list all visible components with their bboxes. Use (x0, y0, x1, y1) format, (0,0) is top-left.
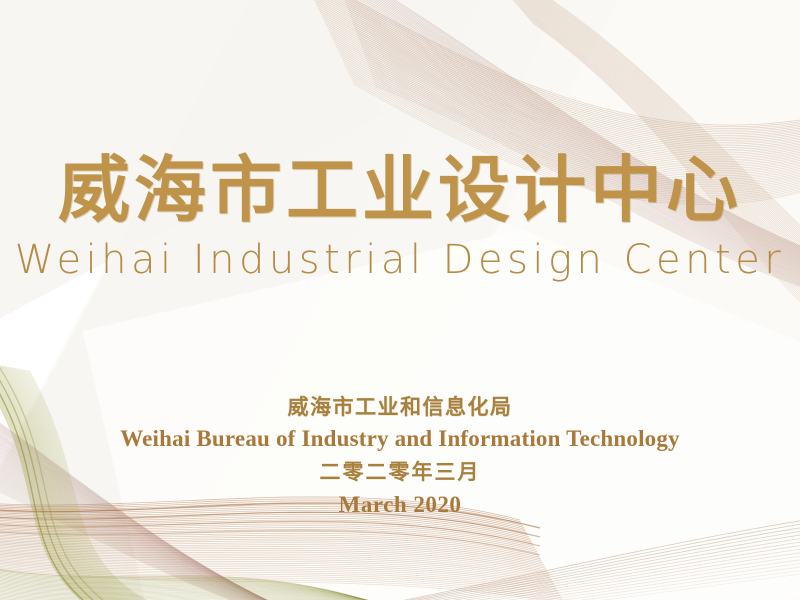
bottom-right-arc-sweep (210, 520, 800, 600)
title-block: 威海市工业设计中心 Weihai Industrial Design Cente… (0, 150, 800, 284)
page-title-chinese: 威海市工业设计中心 (0, 150, 800, 230)
issuer-block: 威海市工业和信息化局 Weihai Bureau of Industry and… (0, 392, 800, 522)
issuer-name-english: Weihai Bureau of Industry and Informatio… (0, 422, 800, 456)
page-title-english: Weihai Industrial Design Center (0, 236, 800, 284)
publication-date-chinese: 二零二零年三月 (0, 456, 800, 488)
publication-date-english: March 2020 (0, 488, 800, 522)
poster-canvas: 威海市工业设计中心 Weihai Industrial Design Cente… (0, 0, 800, 600)
issuer-name-chinese: 威海市工业和信息化局 (0, 392, 800, 422)
